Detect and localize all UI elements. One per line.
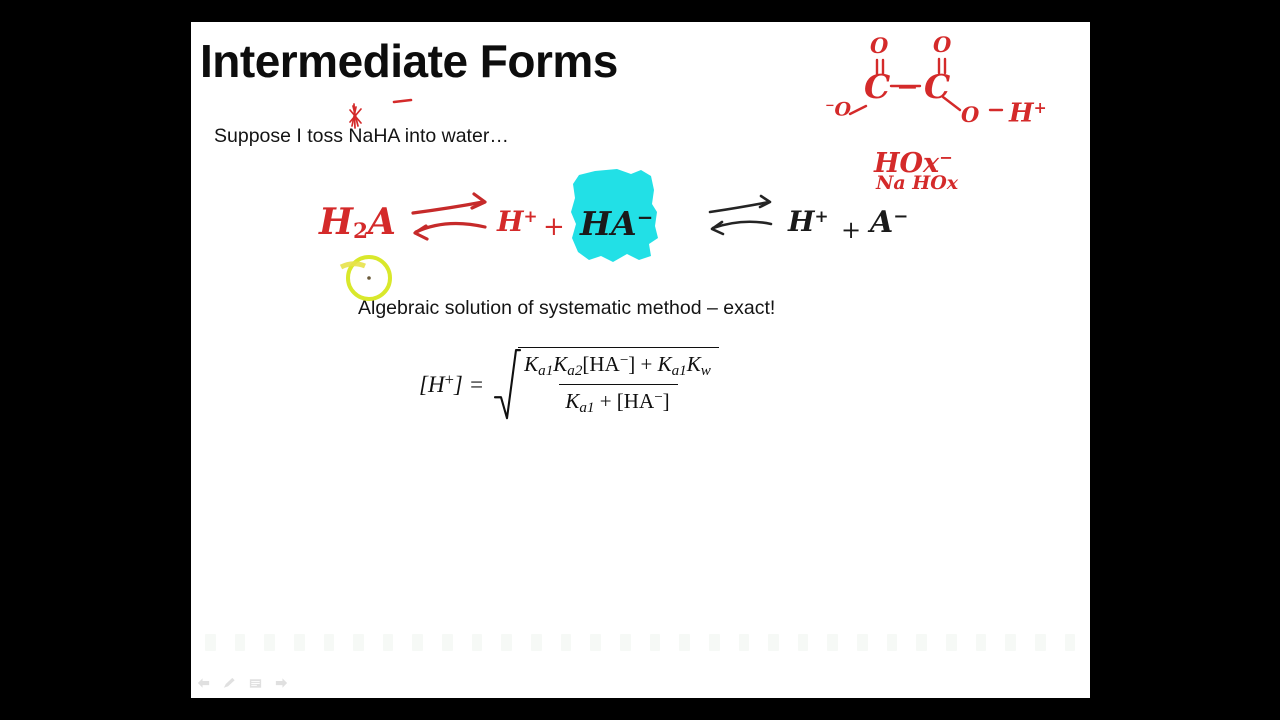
pen-icon[interactable]: [222, 676, 237, 690]
ink-plus-left: +: [543, 214, 565, 240]
fraction: Ka1Ka2[HA−] + Ka1Kw Ka1 + [HA−]: [518, 347, 719, 420]
page-title: Intermediate Forms: [200, 34, 618, 88]
ghost-artifact-strip: [205, 634, 1075, 656]
next-slide-icon[interactable]: [274, 676, 289, 690]
ink-oxalate-o-left: −O: [825, 100, 851, 119]
square-root-expression: Ka1Ka2[HA−] + Ka1Kw Ka1 + [HA−]: [494, 347, 719, 420]
slideshow-toolbar[interactable]: [196, 676, 289, 690]
ink-product-h-plus-right: H+: [788, 208, 829, 236]
equilibrium-arrow-black: [710, 196, 771, 234]
ink-oxalate-c-right: C: [924, 70, 950, 103]
body-line-algebraic: Algebraic solution of systematic method …: [358, 297, 775, 320]
ink-oxalate-o-right: O: [961, 104, 979, 125]
ink-product-a-minus: A−: [870, 208, 908, 238]
fraction-numerator: Ka1Ka2[HA−] + Ka1Kw: [518, 349, 719, 383]
ink-oxalate-o-top-right: O: [933, 34, 951, 55]
yellow-circle-mark: [348, 257, 390, 299]
formula-left-hand-side: [H+] =: [419, 370, 484, 398]
ink-plus-right: +: [841, 218, 861, 242]
ink-label-nahox: Na HOx: [876, 174, 958, 193]
previous-slide-icon[interactable]: [196, 676, 211, 690]
body-line-suppose: Suppose I toss NaHA into water…: [214, 125, 509, 148]
ink-product-h-plus-left: H+: [497, 208, 538, 236]
ink-stray-mark: [341, 264, 365, 267]
bullet-dot: [367, 276, 371, 280]
slide-canvas[interactable]: Intermediate Forms Suppose I toss NaHA i…: [191, 22, 1090, 698]
slides-menu-icon[interactable]: [248, 676, 263, 690]
ink-oxalate-o-top-left: O: [870, 35, 888, 56]
minus-mark-over-ha: [394, 100, 411, 102]
ink-product-ha-minus: HA−: [580, 207, 653, 240]
ink-reactant-h2a: H2A: [319, 204, 396, 242]
ink-oxalate-proton: H+: [1009, 100, 1047, 127]
equation-hydrogen-ion-concentration: [H+] = Ka1Ka2[HA−] + Ka1Kw Ka1 + [HA−]: [419, 347, 719, 420]
radical-sign-icon: [494, 347, 520, 420]
equilibrium-arrow-red: [413, 194, 485, 239]
ink-oxalate-dash-mid: −: [896, 74, 919, 101]
ink-oxalate-c-left: C: [864, 70, 890, 103]
presentation-viewer: Intermediate Forms Suppose I toss NaHA i…: [0, 0, 1280, 720]
fraction-denominator: Ka1 + [HA−]: [559, 384, 677, 420]
